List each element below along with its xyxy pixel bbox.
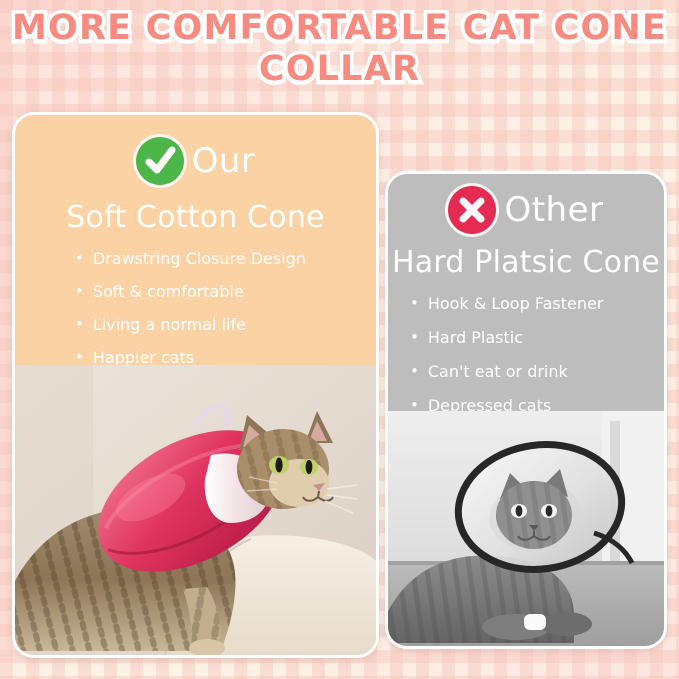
bullet-icon: • <box>75 282 84 301</box>
comparison-card-our: Our Soft Cotton Cone •Drawstring Closure… <box>12 112 379 658</box>
list-item: •Soft & comfortable <box>75 282 375 301</box>
list-item-label: Hook & Loop Fastener <box>428 294 604 313</box>
our-heading: Soft Cotton Cone <box>15 201 376 235</box>
infographic-canvas: MORE COMFORTABLE CAT CONE COLLAR Other H… <box>0 0 679 679</box>
page-title: MORE COMFORTABLE CAT CONE COLLAR <box>0 8 679 90</box>
other-header-row: Other <box>388 186 664 234</box>
list-item: •Hook & Loop Fastener <box>410 294 664 313</box>
our-header-row: Our <box>15 137 376 185</box>
bullet-icon: • <box>410 328 419 347</box>
list-item: •Hard Plastic <box>410 328 664 347</box>
list-item-label: Living a normal life <box>93 315 246 334</box>
our-badge-label: Our <box>192 142 256 180</box>
bullet-icon: • <box>75 315 84 334</box>
page-title-line-1: MORE COMFORTABLE CAT CONE <box>0 8 679 49</box>
bullet-icon: • <box>75 249 84 268</box>
list-item-label: Can't eat or drink <box>428 362 568 381</box>
other-heading: Hard Platsic Cone <box>388 246 664 280</box>
other-feature-list: •Hook & Loop Fastener •Hard Plastic •Can… <box>410 294 664 430</box>
our-feature-list: •Drawstring Closure Design •Soft & comfo… <box>75 249 375 381</box>
bullet-icon: • <box>410 362 419 381</box>
page-title-line-2: COLLAR <box>0 49 679 90</box>
list-item-label: Drawstring Closure Design <box>93 249 306 268</box>
list-item-label: Hard Plastic <box>428 328 523 347</box>
list-item: •Drawstring Closure Design <box>75 249 375 268</box>
list-item-label: Soft & comfortable <box>93 282 244 301</box>
comparison-card-other: Other Hard Platsic Cone •Hook & Loop Fas… <box>385 171 667 649</box>
x-circle-icon <box>448 186 496 234</box>
list-item: •Living a normal life <box>75 315 375 334</box>
list-item: •Can't eat or drink <box>410 362 664 381</box>
other-product-photo <box>388 411 664 646</box>
bullet-icon: • <box>410 294 419 313</box>
our-product-photo <box>15 365 376 655</box>
other-badge-label: Other <box>504 191 603 229</box>
check-circle-icon <box>136 137 184 185</box>
